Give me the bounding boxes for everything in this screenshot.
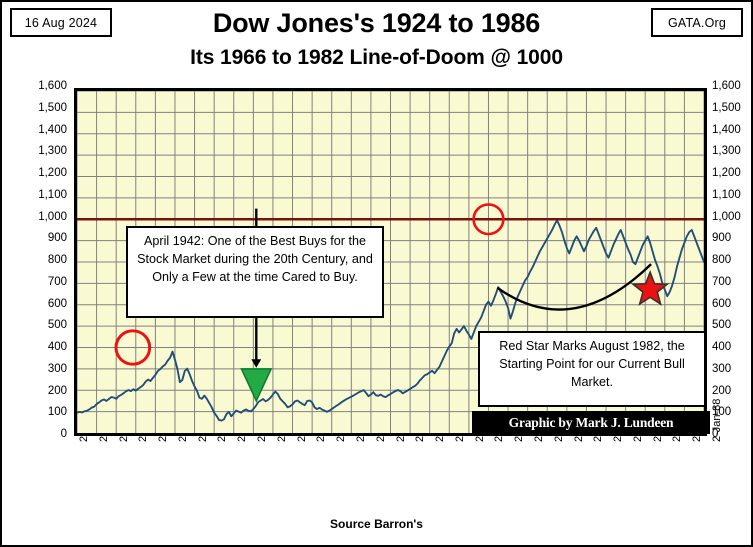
source-label: Source Barron's	[2, 517, 751, 531]
chart-subtitle: Its 1966 to 1982 Line-of-Doom @ 1000	[2, 46, 751, 70]
y-tick-label-right: 1,400	[712, 125, 741, 137]
arrow-head-icon	[251, 359, 261, 368]
chart-screenshot: 16 Aug 2024 GATA.Org Dow Jones's 1924 to…	[0, 0, 753, 547]
y-tick-label-left: 1,000	[38, 212, 67, 224]
red-circle-1929-icon	[116, 331, 150, 364]
y-tick-label-left: 600	[48, 299, 67, 311]
y-tick-label-left: 100	[48, 407, 67, 419]
callout-august-1982: Red Star Marks August 1982, the Starting…	[478, 331, 706, 407]
y-tick-label-left: 800	[48, 255, 67, 267]
y-tick-label-left: 200	[48, 386, 67, 398]
green-down-triangle-icon	[241, 369, 271, 401]
y-tick-label-right: 800	[712, 255, 731, 267]
y-tick-label-right: 1,000	[712, 212, 741, 224]
y-tick-label-right: 500	[712, 320, 731, 332]
x-tick-label: 2-Jan-88	[712, 399, 723, 442]
y-tick-label-right: 1,300	[712, 146, 741, 158]
y-tick-label-left: 300	[48, 364, 67, 376]
y-tick-label-right: 700	[712, 277, 731, 289]
chart-title: Dow Jones's 1924 to 1986	[2, 8, 751, 39]
y-tick-label-right: 400	[712, 342, 731, 354]
y-tick-label-left: 0	[61, 429, 67, 441]
y-tick-label-right: 600	[712, 299, 731, 311]
y-tick-label-right: 1,500	[712, 103, 741, 115]
y-tick-label-right: 1,200	[712, 168, 741, 180]
y-tick-label-left: 500	[48, 320, 67, 332]
callout-april-1942: April 1942: One of the Best Buys for the…	[126, 226, 384, 318]
y-tick-label-right: 900	[712, 233, 731, 245]
y-tick-label-left: 1,100	[38, 190, 67, 202]
y-tick-label-left: 1,300	[38, 146, 67, 158]
y-tick-label-right: 300	[712, 364, 731, 376]
y-tick-label-left: 900	[48, 233, 67, 245]
y-tick-label-left: 1,200	[38, 168, 67, 180]
y-tick-label-left: 1,500	[38, 103, 67, 115]
y-tick-label-right: 1,600	[712, 81, 741, 93]
y-tick-label-right: 200	[712, 386, 731, 398]
y-tick-label-left: 400	[48, 342, 67, 354]
y-tick-label-right: 1,100	[712, 190, 741, 202]
y-tick-label-left: 1,400	[38, 125, 67, 137]
bowl-curve-annotation	[497, 264, 651, 309]
graphic-credit: Graphic by Mark J. Lundeen	[472, 411, 710, 434]
y-tick-label-left: 700	[48, 277, 67, 289]
graphic-credit-label: Graphic by Mark J. Lundeen	[509, 415, 674, 431]
y-tick-label-left: 1,600	[38, 81, 67, 93]
